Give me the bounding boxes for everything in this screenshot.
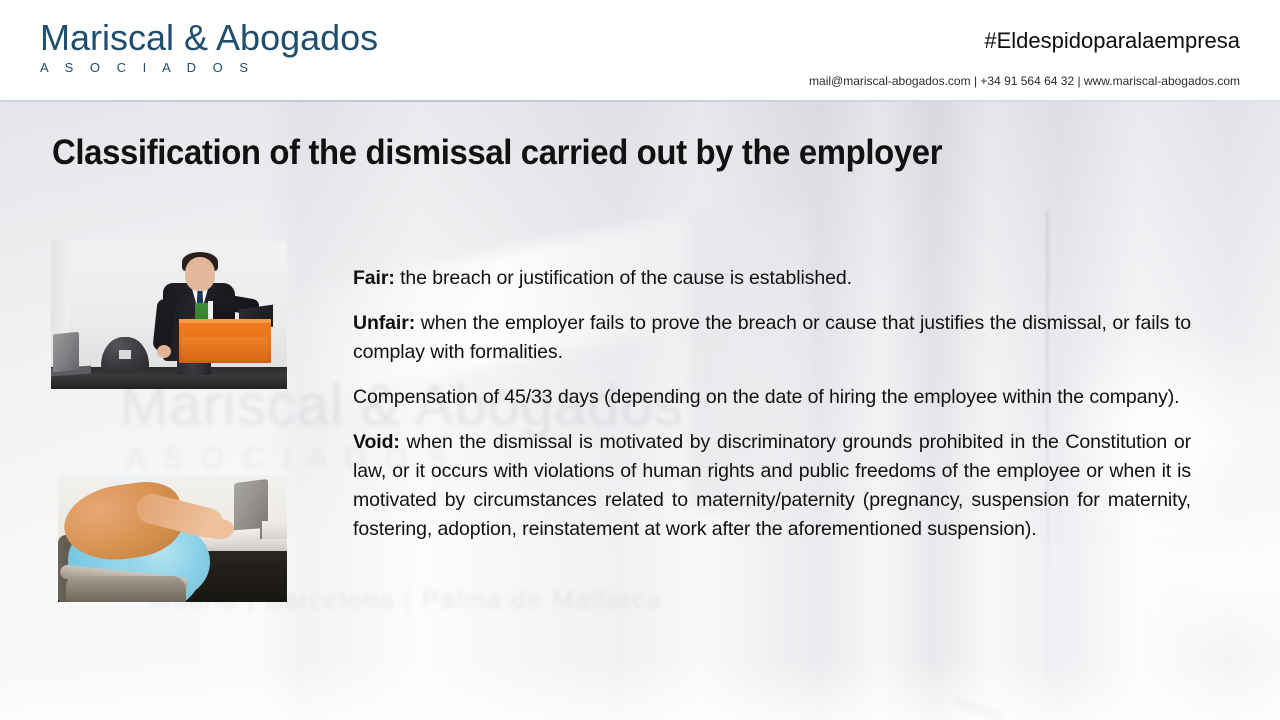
contact-info-line: mail@mariscal-abogados.com | +34 91 564 … <box>809 74 1240 89</box>
paragraph-unfair-lead: Unfair: <box>353 312 415 334</box>
paragraph-compensation-text: Compensation of 45/33 days (depending on… <box>353 386 1180 408</box>
photo1-laptop <box>53 332 79 373</box>
photo2-woman-hand <box>206 519 234 539</box>
paragraph-compensation: Compensation of 45/33 days (depending on… <box>353 383 1191 412</box>
paragraph-void-text: when the dismissal is motivated by discr… <box>353 431 1191 540</box>
paragraph-void: Void: when the dismissal is motivated by… <box>353 428 1191 544</box>
background-bottom-fade <box>0 660 1280 720</box>
page-title: Classification of the dismissal carried … <box>52 132 992 174</box>
header-divider <box>0 100 1280 102</box>
paragraph-fair-lead: Fair: <box>353 267 395 289</box>
photo1-orange-box-front <box>182 337 268 361</box>
paragraph-fair: Fair: the breach or justification of the… <box>353 264 1191 293</box>
brand-logo-tagline: A S O C I A D O S <box>40 60 378 76</box>
campaign-hashtag: #Eldespidoparalaempresa <box>984 28 1240 54</box>
photo1-man-left-hand <box>157 345 171 358</box>
brand-logo: Mariscal & Abogados A S O C I A D O S <box>40 18 378 76</box>
slide-header: Mariscal & Abogados A S O C I A D O S #E… <box>0 0 1280 100</box>
presentation-slide: Mariscal & Abogados A S O C I A D O S Ma… <box>0 0 1280 720</box>
photo2-chair-seat <box>66 576 186 602</box>
paragraph-void-lead: Void: <box>353 431 400 453</box>
pregnant-employee-photo <box>58 475 287 602</box>
photo1-dome-label <box>119 350 131 359</box>
paragraph-unfair-text: when the employer fails to prove the bre… <box>353 312 1191 363</box>
brand-logo-name: Mariscal & Abogados <box>40 18 378 58</box>
paragraph-fair-text: the breach or justification of the cause… <box>395 267 852 289</box>
paragraph-unfair: Unfair: when the employer fails to prove… <box>353 309 1191 367</box>
dismissed-employee-photo <box>51 241 287 389</box>
content-text-column: Fair: the breach or justification of the… <box>353 264 1191 544</box>
photo1-man-head <box>185 257 215 291</box>
